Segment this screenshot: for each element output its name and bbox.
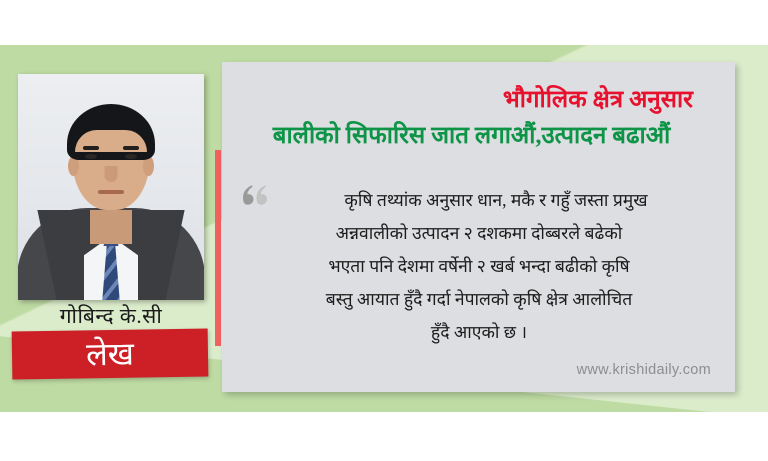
content-panel: भौगोलिक क्षेत्र अनुसार बालीको सिफारिस जा… bbox=[222, 62, 735, 392]
author-photo bbox=[18, 74, 204, 300]
nose-shape bbox=[105, 166, 118, 182]
eye-right-shape bbox=[125, 154, 137, 159]
article-graphic-card: गोबिन्द के.सी लेख भौगोलिक क्षेत्र अनुसार… bbox=[0, 0, 768, 461]
quote-body-text: कृषि तथ्यांक अनुसार धान, मकै र गहुँ जस्त… bbox=[248, 184, 710, 349]
site-url: www.krishidaily.com bbox=[577, 362, 711, 378]
red-accent-bar bbox=[215, 150, 221, 346]
category-banner: लेख bbox=[12, 328, 209, 379]
headline-line-1: भौगोलिक क्षेत्र अनुसार bbox=[222, 82, 721, 115]
eyebrow-left-shape bbox=[83, 146, 99, 150]
quote-line: भएता पनि देशमा वर्षेनी २ खर्ब भन्दा बढीक… bbox=[248, 250, 710, 283]
category-banner-label: लेख bbox=[12, 330, 209, 376]
eyebrow-right-shape bbox=[123, 146, 139, 150]
headline-line-2: बालीको सिफारिस जात लगाऔं,उत्पादन बढाऔं bbox=[222, 118, 721, 151]
mouth-shape bbox=[98, 190, 124, 194]
quote-line: अन्नवालीको उत्पादन २ दशकमा दोब्बरले बढेक… bbox=[248, 217, 710, 250]
quote-line: कृषि तथ्यांक अनुसार धान, मकै र गहुँ जस्त… bbox=[248, 184, 710, 217]
author-name: गोबिन्द के.सी bbox=[14, 302, 208, 330]
quote-line: बस्तु आयात हुँदै गर्दा नेपालको कृषि क्षे… bbox=[248, 283, 710, 316]
eye-left-shape bbox=[85, 154, 97, 159]
quote-line: हुँदै आएको छ । bbox=[248, 316, 710, 349]
neck-shape bbox=[90, 210, 132, 244]
